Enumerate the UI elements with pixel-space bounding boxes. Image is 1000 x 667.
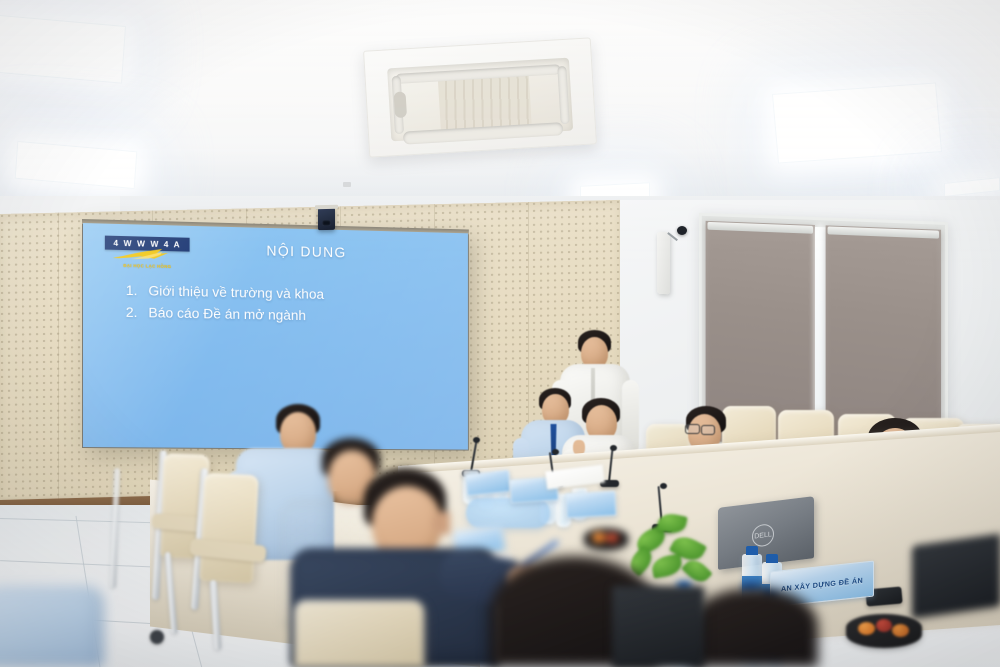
slide-content-list: 1. Giới thiệu về trường và khoa 2. Báo c… — [123, 280, 451, 331]
fruit — [892, 624, 909, 637]
bottle-cap — [766, 554, 778, 563]
camera-lens — [322, 220, 331, 226]
slide-item-text: Báo cáo Đề án mở ngành — [148, 303, 306, 328]
eyeglasses — [685, 424, 700, 434]
hair — [690, 588, 818, 667]
dell-logo: DELL — [752, 523, 774, 548]
fruit — [876, 619, 892, 632]
ac-sensor — [394, 91, 408, 118]
fruit — [858, 622, 875, 635]
logo-subtitle: ĐẠI HỌC LẠC HỒNG — [105, 263, 190, 270]
microphone-head — [552, 449, 559, 455]
fruit — [592, 532, 606, 543]
blind-rail — [828, 226, 940, 238]
fruit — [606, 533, 619, 543]
ear — [432, 512, 450, 534]
slide-item-number: 1. — [123, 280, 138, 303]
fruit-tray — [846, 614, 922, 648]
fruit-tray-small — [584, 528, 628, 550]
torso — [0, 586, 104, 667]
chair-back — [199, 473, 259, 584]
led-panel-1 — [0, 14, 126, 83]
name-placard — [465, 470, 511, 496]
slide-item-number: 2. — [123, 302, 138, 325]
laptop-secondary[interactable] — [912, 534, 1000, 618]
chair-back-dark — [612, 586, 704, 667]
chair-back — [294, 600, 424, 667]
leaf — [650, 554, 683, 579]
bottle-cap — [746, 546, 758, 555]
camera-mount — [315, 205, 338, 210]
ceiling-fixture — [343, 182, 351, 187]
led-panel-3 — [772, 82, 942, 163]
cctv-dome-icon — [677, 226, 687, 235]
name-placard — [565, 491, 616, 519]
blind-rail — [707, 222, 813, 234]
meeting-room-photo: 4 W W W 4 A ĐẠI HỌC LẠC HỒNG NỘI DUNG 1.… — [0, 0, 1000, 667]
microphone-head — [610, 445, 617, 451]
wall-camera-icon — [318, 208, 335, 230]
microphone-head — [473, 437, 480, 443]
eyeglasses — [701, 425, 715, 435]
placard-text: AN XÂY DỰNG ĐỀ ÁN — [781, 575, 863, 593]
microphone-head — [660, 483, 667, 489]
projected-slide: 4 W W W 4 A ĐẠI HỌC LẠC HỒNG NỘI DUNG 1.… — [83, 223, 468, 450]
glass-tray — [466, 498, 550, 528]
ceiling-ac-unit — [363, 37, 597, 157]
table-plant — [626, 508, 716, 584]
chair-caster — [150, 630, 164, 644]
wall-speaker-icon — [657, 232, 670, 295]
projection-screen: 4 W W W 4 A ĐẠI HỌC LẠC HỒNG NỘI DUNG 1.… — [82, 219, 469, 451]
